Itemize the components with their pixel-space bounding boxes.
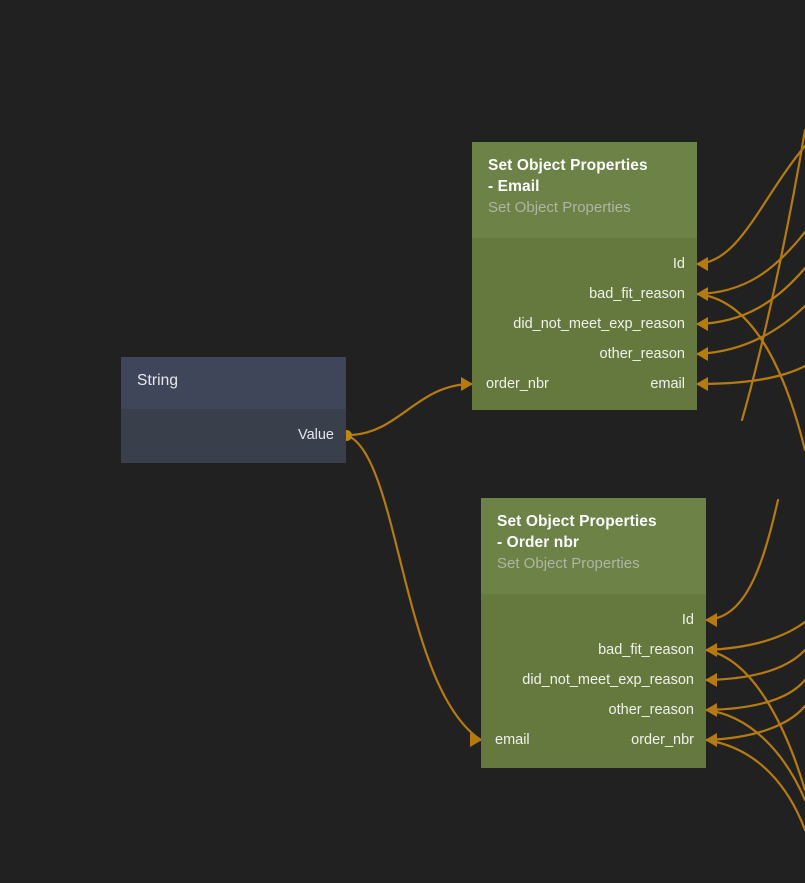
output-port-did_not_meet_exp_reason[interactable]: did_not_meet_exp_reason bbox=[522, 670, 694, 690]
node-header[interactable]: Set Object Properties - EmailSet Object … bbox=[472, 142, 697, 238]
edge-order-order-nbr-offscreen[interactable] bbox=[706, 706, 805, 740]
output-port-id[interactable]: Id bbox=[682, 610, 694, 630]
edge-email-crossing-long-1[interactable] bbox=[697, 294, 805, 450]
edge-order-other-reason-offscreen[interactable] bbox=[706, 680, 805, 710]
output-port-id[interactable]: Id bbox=[673, 254, 685, 274]
node-subtitle: Set Object Properties bbox=[488, 198, 681, 218]
node-header[interactable]: Set Object Properties - Order nbrSet Obj… bbox=[481, 498, 706, 594]
edge-order-crossing-long-3[interactable] bbox=[706, 740, 805, 830]
edge-order-id-offscreen[interactable] bbox=[706, 500, 778, 620]
node-subtitle: Set Object Properties bbox=[497, 554, 690, 574]
node-title: Set Object Properties - Order nbr bbox=[497, 512, 690, 553]
output-port-arrow-email[interactable] bbox=[696, 377, 708, 391]
edge-email-bad-fit-offscreen[interactable] bbox=[697, 232, 805, 294]
node-title: String bbox=[137, 371, 330, 392]
output-port-other_reason[interactable]: other_reason bbox=[600, 344, 685, 364]
edge-order-bad-fit-offscreen[interactable] bbox=[706, 622, 805, 650]
output-port-arrow-did_not_meet_exp_reason[interactable] bbox=[705, 673, 717, 687]
output-port-other_reason[interactable]: other_reason bbox=[609, 700, 694, 720]
edge-email-id-offscreen[interactable] bbox=[697, 146, 805, 264]
output-port-did_not_meet_exp_reason[interactable]: did_not_meet_exp_reason bbox=[513, 314, 685, 334]
edge-string-value-to-email-order-nbr[interactable] bbox=[352, 384, 472, 435]
output-port-arrow-other_reason[interactable] bbox=[696, 347, 708, 361]
edge-string-value-to-order-nbr-email[interactable] bbox=[352, 438, 481, 740]
node-header[interactable]: String bbox=[121, 357, 346, 409]
input-port-email[interactable]: email bbox=[495, 730, 530, 750]
output-port-arrow-id[interactable] bbox=[696, 257, 708, 271]
edge-order-crossing-long-2[interactable] bbox=[706, 710, 805, 800]
edge-order-did-not-meet-offscreen[interactable] bbox=[706, 650, 805, 680]
output-port-arrow-id[interactable] bbox=[705, 613, 717, 627]
output-port-arrow-bad_fit_reason[interactable] bbox=[696, 287, 708, 301]
output-port-arrow-did_not_meet_exp_reason[interactable] bbox=[696, 317, 708, 331]
edge-email-crossing-long-2[interactable] bbox=[742, 130, 805, 420]
output-port-bad_fit_reason[interactable]: bad_fit_reason bbox=[598, 640, 694, 660]
node-string-node[interactable]: StringValue bbox=[121, 357, 346, 463]
edge-email-did-not-meet-offscreen[interactable] bbox=[697, 268, 805, 324]
output-port-order_nbr[interactable]: order_nbr bbox=[631, 730, 694, 750]
output-port-bad_fit_reason[interactable]: bad_fit_reason bbox=[589, 284, 685, 304]
edge-email-other-reason-offscreen[interactable] bbox=[697, 306, 805, 354]
output-port-email[interactable]: email bbox=[650, 374, 685, 394]
node-title: Set Object Properties - Email bbox=[488, 156, 681, 197]
node-set-object-properties-order-nbr[interactable]: Set Object Properties - Order nbrSet Obj… bbox=[481, 498, 706, 768]
input-port-order_nbr[interactable]: order_nbr bbox=[486, 374, 549, 394]
output-port-arrow-other_reason[interactable] bbox=[705, 703, 717, 717]
edge-email-email-offscreen[interactable] bbox=[697, 366, 805, 384]
output-port-arrow-bad_fit_reason[interactable] bbox=[705, 643, 717, 657]
node-set-object-properties-email[interactable]: Set Object Properties - EmailSet Object … bbox=[472, 142, 697, 410]
output-port-arrow-order_nbr[interactable] bbox=[705, 733, 717, 747]
output-port-value[interactable]: Value bbox=[298, 425, 334, 445]
edge-order-crossing-long-1[interactable] bbox=[706, 650, 805, 790]
node-graph-canvas[interactable]: StringValueSet Object Properties - Email… bbox=[0, 0, 805, 883]
